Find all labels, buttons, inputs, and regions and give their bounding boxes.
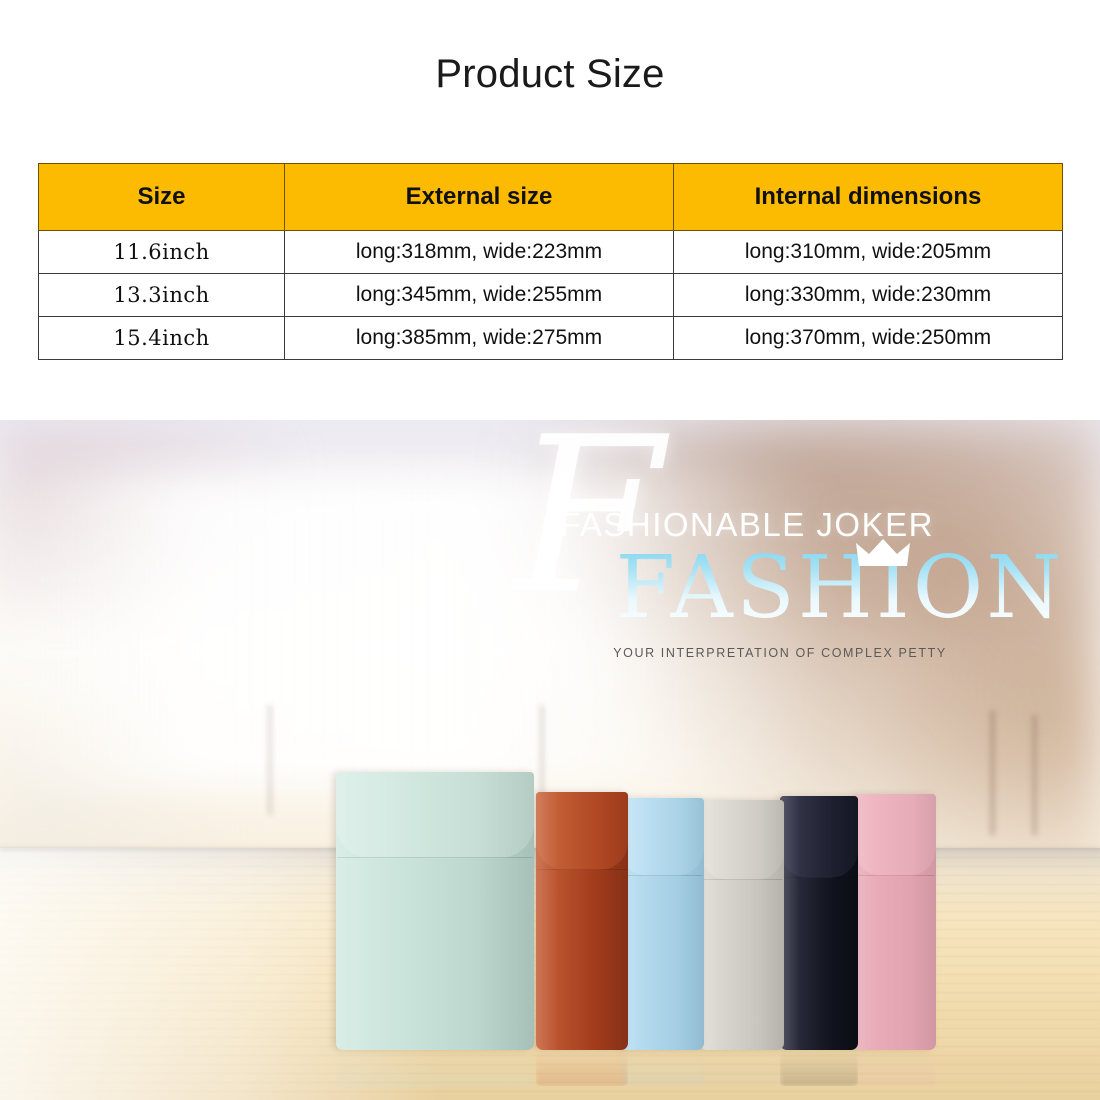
product-size-table: Size External size Internal dimensions 1…	[38, 163, 1063, 360]
cell-internal-dimensions: long:330mm, wide:230mm	[674, 274, 1063, 317]
sleeve-sheen	[536, 792, 628, 1050]
cell-size: 11.6inch	[39, 231, 285, 274]
table-row: 13.3inch long:345mm, wide:255mm long:330…	[39, 274, 1063, 317]
cell-external-size: long:318mm, wide:223mm	[285, 231, 674, 274]
sleeve-sheen	[780, 796, 858, 1050]
column-header-external-size: External size	[285, 164, 674, 231]
mint-green-sleeve	[336, 772, 534, 1050]
cell-external-size: long:385mm, wide:275mm	[285, 317, 674, 360]
navy-black-sleeve	[780, 796, 858, 1050]
beige-gray-sleeve-reflection	[700, 1050, 784, 1086]
navy-black-sleeve-reflection	[780, 1050, 858, 1086]
cell-internal-dimensions: long:310mm, wide:205mm	[674, 231, 1063, 274]
product-group	[0, 420, 1100, 1100]
cell-external-size: long:345mm, wide:255mm	[285, 274, 674, 317]
cell-size: 15.4inch	[39, 317, 285, 360]
table-row: 11.6inch long:318mm, wide:223mm long:310…	[39, 231, 1063, 274]
lifestyle-product-photo: F FASHIONABLE JOKER FASHION YOUR INTERPR…	[0, 420, 1100, 1100]
page-title: Product Size	[0, 52, 1100, 97]
sleeve-sheen	[336, 772, 534, 1050]
rust-brown-sleeve-reflection	[536, 1050, 628, 1086]
product-size-panel: Product Size Size External size Internal…	[0, 0, 1100, 420]
pink-sleeve-reflection	[854, 1050, 936, 1086]
rust-brown-sleeve	[536, 792, 628, 1050]
sleeve-sheen	[700, 800, 784, 1050]
mint-green-sleeve-reflection	[336, 1048, 534, 1088]
table-header-row: Size External size Internal dimensions	[39, 164, 1063, 231]
column-header-internal-dimensions: Internal dimensions	[674, 164, 1063, 231]
pink-sleeve	[854, 794, 936, 1050]
cell-size: 13.3inch	[39, 274, 285, 317]
beige-gray-sleeve	[700, 800, 784, 1050]
cell-internal-dimensions: long:370mm, wide:250mm	[674, 317, 1063, 360]
sleeve-sheen	[854, 794, 936, 1050]
light-blue-sleeve-reflection	[620, 1050, 704, 1086]
table-row: 15.4inch long:385mm, wide:275mm long:370…	[39, 317, 1063, 360]
light-blue-sleeve	[620, 798, 704, 1050]
column-header-size: Size	[39, 164, 285, 231]
sleeve-sheen	[620, 798, 704, 1050]
